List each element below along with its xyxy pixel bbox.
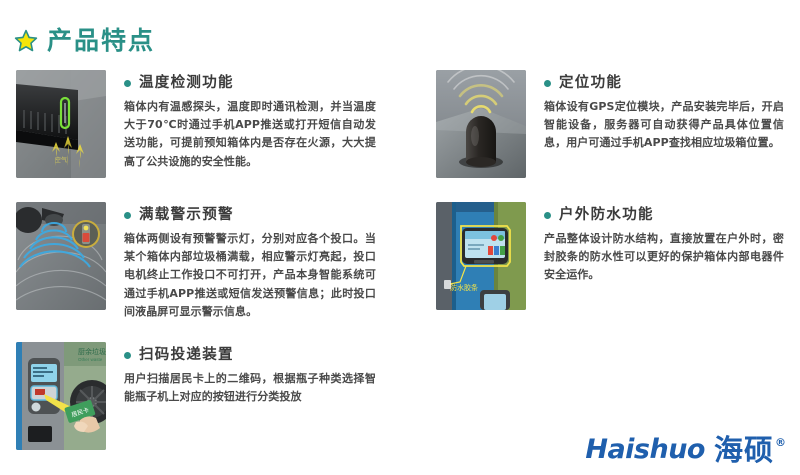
feature-title-label: 满载警示预警 (139, 208, 234, 223)
bullet-icon (124, 212, 131, 219)
star-icon (14, 29, 38, 53)
feature-description: 箱体两侧设有预警警示灯，分别对应各个投口。当某个箱体内部垃圾桶满载，相应警示灯亮… (124, 230, 376, 322)
feature-title: 扫码投递装置 (124, 348, 420, 363)
feature-row: 空气 温度检测功能 箱体内有温感探头，温度即时通讯检测，并当温度大于70℃时通过… (0, 70, 800, 202)
registered-trademark-icon: ® (775, 437, 786, 448)
feature-list: 空气 温度检测功能 箱体内有温感探头，温度即时通讯检测，并当温度大于70℃时通过… (0, 70, 800, 462)
feature-text: 满载警示预警 箱体两侧设有预警警示灯，分别对应各个投口。当某个箱体内部垃圾桶满载… (106, 202, 420, 322)
feature-text: 扫码投递装置 用户扫描居民卡上的二维码，根据瓶子种类选择智能瓶子机上对应的按钮进… (106, 342, 420, 406)
feature-title-label: 户外防水功能 (559, 208, 654, 223)
bullet-icon (544, 80, 551, 87)
brand-logo-cjk: 海硕 (714, 436, 774, 465)
feature-title: 户外防水功能 (544, 208, 800, 223)
feature-item-full-load-warning: 满载警示预警 箱体两侧设有预警警示灯，分别对应各个投口。当某个箱体内部垃圾桶满载… (0, 202, 420, 342)
feature-description: 箱体内有温感探头，温度即时通讯检测，并当温度大于70℃时通过手机APP推送或打开… (124, 98, 376, 172)
bullet-icon (124, 80, 131, 87)
page-title: 产品特点 (47, 28, 155, 53)
svg-text:Other waste: Other waste (78, 357, 103, 362)
feature-title: 满载警示预警 (124, 208, 420, 223)
feature-title-label: 扫码投递装置 (139, 348, 234, 363)
brand-logo-latin: Haishuo (585, 436, 705, 463)
warning-light-photo (16, 202, 106, 310)
feature-title: 定位功能 (544, 76, 800, 91)
svg-text:防水胶条: 防水胶条 (450, 283, 478, 292)
feature-item-outdoor-waterproof: 防水胶条 户外防水功能 产品整体设计防水结构，直接放置在户外时，密封胶条的防水性… (420, 202, 800, 342)
svg-text:空气: 空气 (55, 156, 67, 164)
feature-title-label: 温度检测功能 (139, 76, 234, 91)
feature-description: 产品整体设计防水结构，直接放置在户外时，密封胶条的防水性可以更好的保护箱体内部电… (544, 230, 784, 285)
feature-title: 温度检测功能 (124, 76, 420, 91)
feature-text: 户外防水功能 产品整体设计防水结构，直接放置在户外时，密封胶条的防水性可以更好的… (526, 202, 800, 285)
brand-logo: Haishuo 海硕 ® (585, 436, 786, 465)
bullet-icon (124, 352, 131, 359)
feature-item-qr-code-delivery: 厨余垃圾 Other waste (0, 342, 420, 462)
page-header: 产品特点 (14, 28, 155, 53)
bullet-icon (544, 212, 551, 219)
gps-antenna-photo (436, 70, 526, 178)
qr-scanner-photo: 厨余垃圾 Other waste (16, 342, 106, 450)
feature-text: 温度检测功能 箱体内有温感探头，温度即时通讯检测，并当温度大于70℃时通过手机A… (106, 70, 420, 171)
feature-item-gps-positioning: 定位功能 箱体设有GPS定位模块，产品安装完毕后，开启智能设备，服务器可自动获得… (420, 70, 800, 202)
feature-description: 箱体设有GPS定位模块，产品安装完毕后，开启智能设备，服务器可自动获得产品具体位… (544, 98, 784, 153)
feature-item-temperature-detection: 空气 温度检测功能 箱体内有温感探头，温度即时通讯检测，并当温度大于70℃时通过… (0, 70, 420, 202)
feature-description: 用户扫描居民卡上的二维码，根据瓶子种类选择智能瓶子机上对应的按钮进行分类投放 (124, 370, 376, 407)
waterproof-screen-photo: 防水胶条 (436, 202, 526, 310)
feature-title-label: 定位功能 (559, 76, 622, 91)
feature-text: 定位功能 箱体设有GPS定位模块，产品安装完毕后，开启智能设备，服务器可自动获得… (526, 70, 800, 153)
temperature-sensor-photo: 空气 (16, 70, 106, 178)
feature-row: 满载警示预警 箱体两侧设有预警警示灯，分别对应各个投口。当某个箱体内部垃圾桶满载… (0, 202, 800, 342)
svg-text:厨余垃圾: 厨余垃圾 (78, 347, 106, 356)
